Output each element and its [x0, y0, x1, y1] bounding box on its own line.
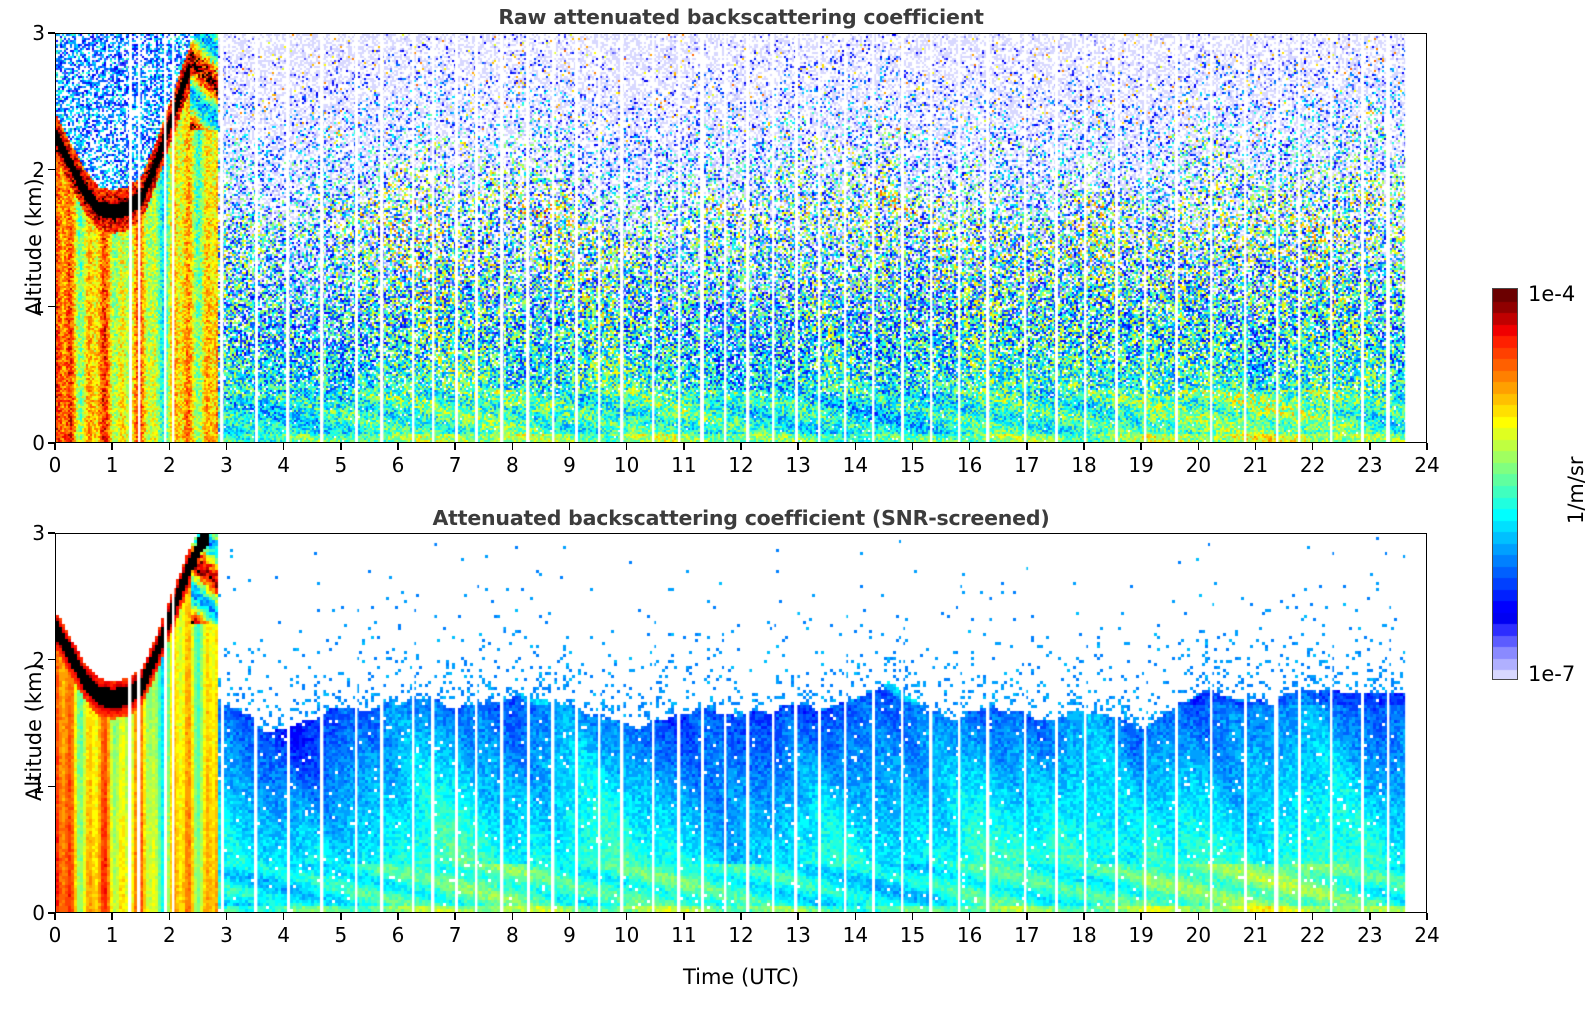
x-tick-label: 8	[506, 453, 519, 477]
x-tick-mark	[454, 443, 456, 450]
x-tick-mark	[1312, 443, 1314, 450]
x-tick-mark	[1426, 443, 1428, 450]
colorbar-max-label: 1e-4	[1528, 282, 1575, 306]
x-tick-label: 2	[163, 453, 176, 477]
colorbar-canvas	[1493, 289, 1518, 680]
colorbar[interactable]	[1492, 288, 1518, 680]
x-tick-mark	[512, 913, 514, 920]
x-tick-label: 3	[220, 453, 233, 477]
colorbar-unit-label: 1/m/sr	[1564, 456, 1588, 524]
x-tick-mark	[969, 443, 971, 450]
x-tick-label: 20	[1186, 923, 1211, 947]
x-tick-label: 12	[728, 453, 753, 477]
y-tick-label: 3	[13, 521, 45, 545]
x-tick-label: 1	[106, 453, 119, 477]
x-tick-label: 4	[277, 453, 290, 477]
y-axis-label-screened: Altitude (km)	[22, 663, 46, 801]
x-tick-label: 5	[334, 923, 347, 947]
x-tick-mark	[1369, 913, 1371, 920]
y-tick-label: 3	[13, 21, 45, 45]
x-tick-mark	[1312, 913, 1314, 920]
x-tick-mark	[1426, 913, 1428, 920]
x-tick-mark	[740, 443, 742, 450]
y-tick-mark	[48, 169, 55, 171]
x-tick-label: 9	[563, 453, 576, 477]
x-tick-mark	[283, 443, 285, 450]
x-tick-mark	[1026, 913, 1028, 920]
x-tick-label: 7	[449, 923, 462, 947]
x-tick-mark	[969, 913, 971, 920]
y-tick-mark	[48, 786, 55, 788]
y-tick-mark	[48, 659, 55, 661]
x-tick-mark	[454, 913, 456, 920]
y-tick-label: 0	[13, 901, 45, 925]
x-tick-mark	[111, 913, 113, 920]
x-tick-mark	[569, 913, 571, 920]
x-tick-mark	[912, 913, 914, 920]
x-tick-mark	[1140, 443, 1142, 450]
x-tick-label: 18	[1071, 453, 1096, 477]
x-tick-label: 11	[671, 923, 696, 947]
x-tick-label: 8	[506, 923, 519, 947]
x-tick-label: 17	[1014, 923, 1039, 947]
x-tick-mark	[1140, 913, 1142, 920]
x-tick-label: 2	[163, 923, 176, 947]
heatmap-axes-screened[interactable]	[55, 533, 1427, 913]
panel-title-raw: Raw attenuated backscattering coefficien…	[55, 5, 1427, 29]
x-tick-label: 16	[957, 923, 982, 947]
y-tick-mark	[48, 912, 55, 914]
x-tick-mark	[1255, 443, 1257, 450]
y-tick-mark	[48, 442, 55, 444]
colorbar-min-label: 1e-7	[1528, 662, 1575, 686]
x-tick-label: 20	[1186, 453, 1211, 477]
x-tick-label: 15	[900, 453, 925, 477]
x-tick-label: 23	[1357, 453, 1382, 477]
x-tick-mark	[683, 443, 685, 450]
x-tick-label: 1	[106, 923, 119, 947]
y-tick-mark	[48, 306, 55, 308]
y-tick-label: 0	[13, 431, 45, 455]
x-tick-mark	[283, 913, 285, 920]
x-tick-mark	[1198, 443, 1200, 450]
x-tick-mark	[855, 913, 857, 920]
x-tick-mark	[1255, 913, 1257, 920]
heatmap-axes-raw[interactable]	[55, 33, 1427, 443]
x-tick-mark	[797, 443, 799, 450]
x-tick-mark	[1083, 443, 1085, 450]
x-tick-label: 12	[728, 923, 753, 947]
x-tick-mark	[226, 913, 228, 920]
x-tick-mark	[111, 443, 113, 450]
x-tick-label: 15	[900, 923, 925, 947]
x-tick-mark	[740, 913, 742, 920]
x-tick-label: 4	[277, 923, 290, 947]
x-tick-mark	[340, 443, 342, 450]
y-tick-mark	[48, 32, 55, 34]
x-tick-label: 10	[614, 923, 639, 947]
x-tick-mark	[340, 913, 342, 920]
x-tick-label: 7	[449, 453, 462, 477]
heatmap-canvas-screened	[56, 534, 1427, 913]
x-tick-label: 6	[392, 923, 405, 947]
y-tick-mark	[48, 532, 55, 534]
x-tick-label: 13	[785, 453, 810, 477]
x-tick-label: 24	[1414, 453, 1439, 477]
x-tick-mark	[797, 913, 799, 920]
x-tick-label: 19	[1128, 923, 1153, 947]
figure-root: Raw attenuated backscattering coefficien…	[0, 0, 1595, 1020]
x-tick-mark	[397, 443, 399, 450]
x-tick-mark	[1083, 913, 1085, 920]
x-tick-label: 22	[1300, 453, 1325, 477]
x-tick-label: 11	[671, 453, 696, 477]
x-axis-label-time: Time (UTC)	[683, 965, 799, 989]
x-tick-label: 3	[220, 923, 233, 947]
x-tick-mark	[626, 913, 628, 920]
x-tick-label: 10	[614, 453, 639, 477]
x-tick-label: 23	[1357, 923, 1382, 947]
x-tick-mark	[54, 443, 56, 450]
x-tick-mark	[169, 913, 171, 920]
x-tick-label: 19	[1128, 453, 1153, 477]
heatmap-canvas-raw	[56, 34, 1427, 443]
x-tick-label: 16	[957, 453, 982, 477]
x-tick-label: 14	[843, 923, 868, 947]
y-axis-label-raw: Altitude (km)	[22, 178, 46, 316]
x-tick-label: 18	[1071, 923, 1096, 947]
x-tick-label: 21	[1243, 453, 1268, 477]
x-tick-label: 21	[1243, 923, 1268, 947]
x-tick-label: 14	[843, 453, 868, 477]
x-tick-label: 22	[1300, 923, 1325, 947]
x-tick-mark	[169, 443, 171, 450]
x-tick-label: 0	[49, 923, 62, 947]
x-tick-mark	[683, 913, 685, 920]
x-tick-label: 9	[563, 923, 576, 947]
x-tick-label: 0	[49, 453, 62, 477]
x-tick-mark	[512, 443, 514, 450]
panel-title-screened: Attenuated backscattering coefficient (S…	[55, 506, 1427, 530]
x-tick-label: 24	[1414, 923, 1439, 947]
x-tick-mark	[626, 443, 628, 450]
x-tick-mark	[54, 913, 56, 920]
x-tick-label: 5	[334, 453, 347, 477]
x-tick-label: 13	[785, 923, 810, 947]
x-tick-mark	[569, 443, 571, 450]
x-tick-mark	[1369, 443, 1371, 450]
x-tick-label: 6	[392, 453, 405, 477]
x-tick-mark	[1026, 443, 1028, 450]
x-tick-mark	[855, 443, 857, 450]
x-tick-mark	[912, 443, 914, 450]
x-tick-label: 17	[1014, 453, 1039, 477]
x-tick-mark	[226, 443, 228, 450]
x-tick-mark	[397, 913, 399, 920]
x-tick-mark	[1198, 913, 1200, 920]
